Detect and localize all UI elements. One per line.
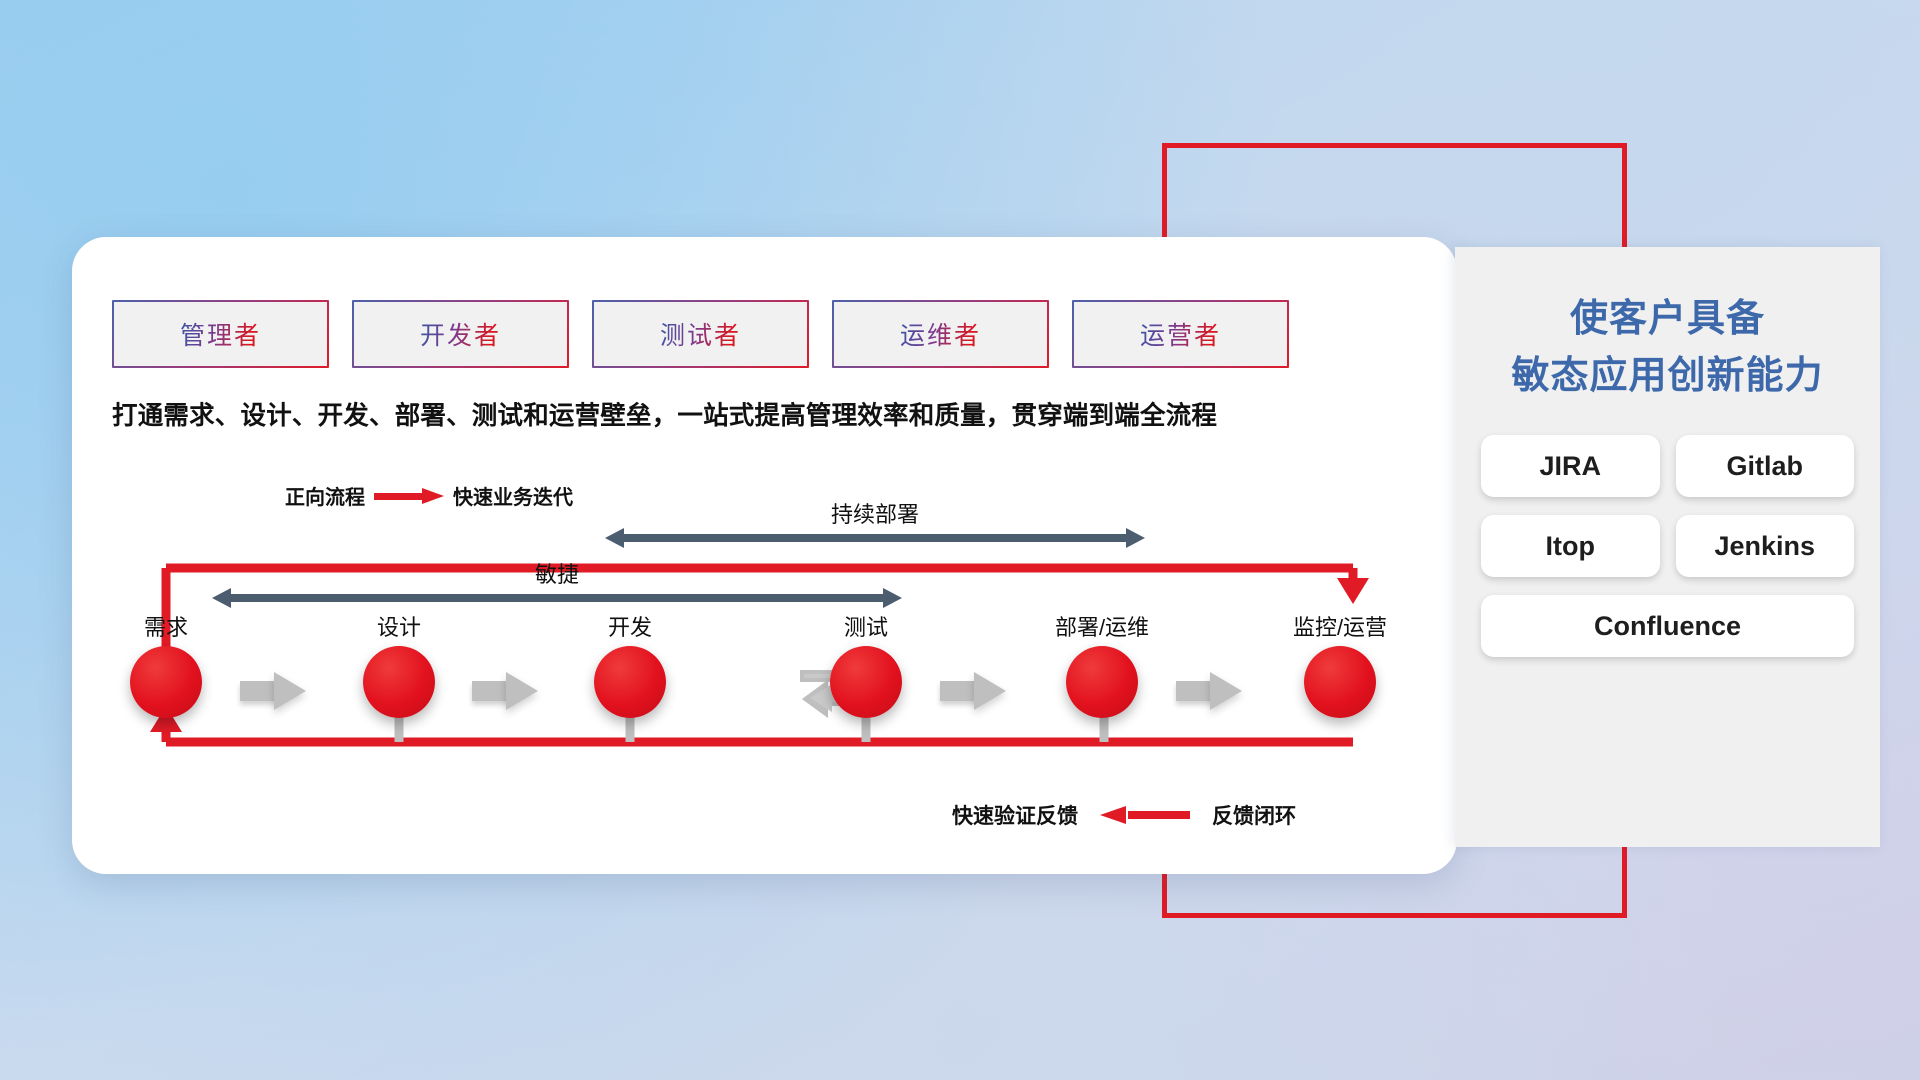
double-arrow-icon	[605, 528, 1145, 548]
stage-dot	[594, 646, 666, 718]
role-box-manager[interactable]: 管理者	[112, 300, 329, 368]
feedback-left-label: 快速验证反馈	[952, 800, 1078, 830]
stage-dot	[830, 646, 902, 718]
span-arrow-continuous-deployment: 持续部署	[605, 497, 1145, 553]
role-label: 管理者	[180, 316, 261, 352]
span-arrow-label: 持续部署	[605, 497, 1145, 529]
stage-dot	[363, 646, 435, 718]
forward-flow-left-label: 正向流程	[285, 481, 365, 510]
pipeline-node-label: 监控/运营	[1293, 610, 1387, 642]
stage-dot	[1304, 646, 1376, 718]
double-arrow-icon	[212, 588, 902, 608]
forward-flow-legend: 正向流程 快速业务迭代	[285, 481, 573, 510]
stage-dot	[130, 646, 202, 718]
tool-chip-itop[interactable]: Itop	[1481, 515, 1660, 577]
stage-dot	[1066, 646, 1138, 718]
panel-title: 使客户具备 敏态应用创新能力	[1481, 291, 1854, 405]
right-side-panel: 使客户具备 敏态应用创新能力 JIRA Gitlab Itop Jenkins …	[1455, 247, 1880, 847]
role-label: 运维者	[900, 316, 981, 352]
arrow-right-red-icon	[374, 488, 444, 504]
forward-flow-right-label: 快速业务迭代	[453, 481, 573, 510]
role-box-tester[interactable]: 测试者	[592, 300, 809, 368]
pipeline-node-label: 设计	[377, 610, 421, 642]
headline-text: 打通需求、设计、开发、部署、测试和运营壁垒，一站式提高管理效率和质量，贯穿端到端…	[112, 395, 1412, 432]
arrow-right-gray-icon	[240, 672, 306, 710]
pipeline-node-label: 开发	[608, 610, 652, 642]
role-boxes-row: 管理者 开发者 测试者 运维者 运营者	[112, 300, 1289, 368]
span-arrow-agile: 敏捷	[212, 557, 902, 613]
pipeline-stages: 需求 设计 开发 测试 部署/运维 监控/运营	[112, 610, 1402, 730]
pipeline-node-label: 测试	[844, 610, 888, 642]
arrow-right-gray-icon	[1176, 672, 1242, 710]
feedback-right-label: 反馈闭环	[1212, 800, 1296, 830]
role-label: 测试者	[660, 316, 741, 352]
role-label: 开发者	[420, 316, 501, 352]
panel-title-line-2: 敏态应用创新能力	[1481, 348, 1854, 405]
role-box-developer[interactable]: 开发者	[352, 300, 569, 368]
panel-title-line-1: 使客户具备	[1481, 291, 1854, 348]
span-arrow-label: 敏捷	[212, 557, 902, 589]
feedback-loop-legend: 快速验证反馈 反馈闭环	[952, 800, 1296, 830]
arrow-right-gray-icon	[940, 672, 1006, 710]
arrow-right-gray-icon	[472, 672, 538, 710]
tool-chip-list: JIRA Gitlab Itop Jenkins Confluence	[1481, 435, 1854, 657]
role-box-operations[interactable]: 运营者	[1072, 300, 1289, 368]
role-box-ops[interactable]: 运维者	[832, 300, 1049, 368]
tool-chip-jenkins[interactable]: Jenkins	[1676, 515, 1855, 577]
pipeline-node-label: 部署/运维	[1055, 610, 1149, 642]
tool-chip-gitlab[interactable]: Gitlab	[1676, 435, 1855, 497]
pipeline-node-label: 需求	[144, 610, 188, 642]
arrow-left-red-icon	[1100, 806, 1190, 824]
tool-chip-jira[interactable]: JIRA	[1481, 435, 1660, 497]
role-label: 运营者	[1140, 316, 1221, 352]
tool-chip-confluence[interactable]: Confluence	[1481, 595, 1854, 657]
